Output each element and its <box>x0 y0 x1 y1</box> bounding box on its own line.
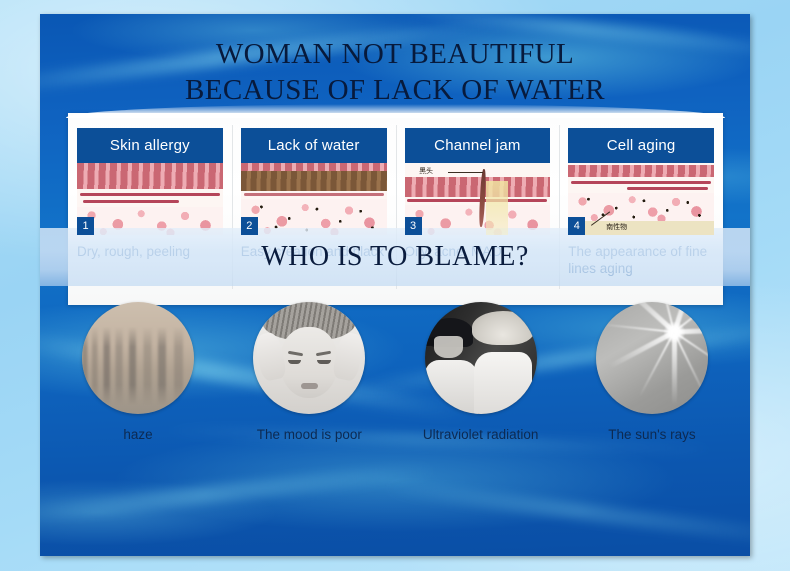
card-number-badge: 2 <box>241 217 258 235</box>
water-streak-icon <box>381 479 750 549</box>
blame-heading: WHO IS TO BLAME? <box>40 236 750 278</box>
diagram-label-collagen: 南性物 <box>606 222 627 232</box>
cause-label: The mood is poor <box>229 426 389 443</box>
dermis-base-band <box>568 221 714 235</box>
cause-uv[interactable]: Ultraviolet radiation <box>401 302 561 443</box>
water-background-panel: WOMAN NOT BEAUTIFUL BECAUSE OF LACK OF W… <box>40 14 750 556</box>
cause-mood[interactable]: The mood is poor <box>229 302 389 443</box>
cause-label: The sun's rays <box>572 426 732 443</box>
sun-rays-icon <box>596 302 708 414</box>
sun-rays-image <box>596 302 708 414</box>
cause-haze[interactable]: haze <box>58 302 218 443</box>
card-number-badge: 1 <box>77 217 94 235</box>
card-title: Lack of water <box>241 128 387 163</box>
poster: WOMAN NOT BEAUTIFUL BECAUSE OF LACK OF W… <box>0 0 790 571</box>
sun-protection-image <box>425 302 537 414</box>
causes-row: haze The mood is poo <box>58 302 732 443</box>
diagram-label-blackhead: 黑头 <box>419 166 433 176</box>
card-number-badge: 3 <box>405 217 422 235</box>
card-title: Cell aging <box>568 128 714 163</box>
skin-cross-section-diagram: 南性物 4 <box>568 163 714 235</box>
skin-cross-section-diagram: 黑头 3 <box>405 163 551 235</box>
card-title: Skin allergy <box>77 128 223 163</box>
aging-dots-icon <box>568 193 714 221</box>
skin-cross-section-diagram: 1 <box>77 163 223 235</box>
cause-label: haze <box>58 426 218 443</box>
water-streak-icon <box>40 462 440 524</box>
haze-image <box>82 302 194 414</box>
card-number-badge: 4 <box>568 217 585 235</box>
page-title: WOMAN NOT BEAUTIFUL BECAUSE OF LACK OF W… <box>40 36 750 108</box>
skin-cross-section-diagram: 2 <box>241 163 387 235</box>
cause-label: Ultraviolet radiation <box>401 426 561 443</box>
headache-woman-image <box>253 302 365 414</box>
cause-sun[interactable]: The sun's rays <box>572 302 732 443</box>
card-title: Channel jam <box>405 128 551 163</box>
